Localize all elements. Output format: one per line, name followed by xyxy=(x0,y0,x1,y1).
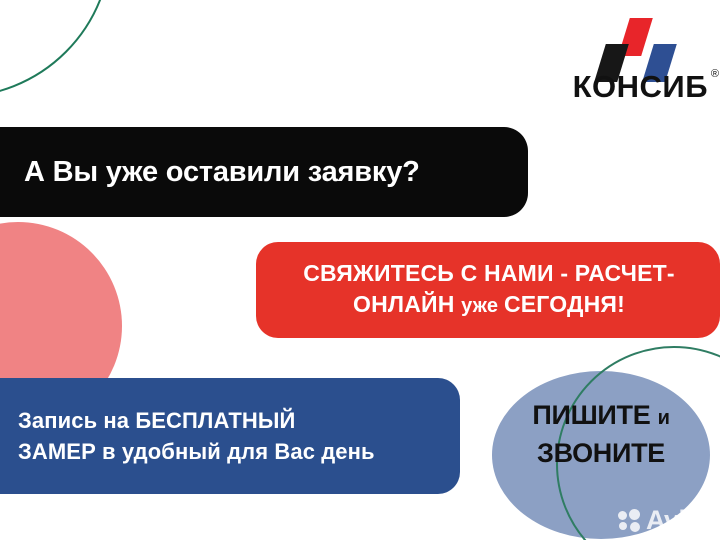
banner-question-text: А Вы уже оставили заявку? xyxy=(24,155,508,189)
banner-contact: СВЯЖИТЕСЬ С НАМИ - РАСЧЕТ- ОНЛАЙН уже СЕ… xyxy=(256,242,720,338)
registered-trademark-icon: ® xyxy=(711,68,719,80)
avito-watermark-text: Avito xyxy=(646,507,710,534)
banner-contact-line-2-part-3: СЕГОДНЯ! xyxy=(504,291,625,317)
banner-contact-line-2-part-2: уже xyxy=(461,295,504,317)
advertisement-canvas: КОНСИБ ® А Вы уже оставили заявку? СВЯЖИ… xyxy=(0,0,720,540)
banner-question: А Вы уже оставили заявку? xyxy=(0,127,528,217)
cta-line-1-conjunction: и xyxy=(658,407,670,429)
banner-measure-line-2: ЗАМЕР в удобный для Вас день xyxy=(18,436,442,467)
banner-free-measurement: Запись на БЕСПЛАТНЫЙ ЗАМЕР в удобный для… xyxy=(0,378,460,494)
banner-contact-line-2: ОНЛАЙН уже СЕГОДНЯ! xyxy=(278,289,700,322)
banner-measure-line-1: Запись на БЕСПЛАТНЫЙ xyxy=(18,405,442,436)
decorative-arc-top-left-icon xyxy=(0,0,112,98)
cta-write-and-call: ПИШИТЕ и ЗВОНИТЕ xyxy=(492,398,710,471)
cta-line-1-main: ПИШИТЕ xyxy=(532,400,657,430)
logo-wordmark-text: КОНСИБ xyxy=(573,69,708,104)
brand-logo: КОНСИБ ® xyxy=(562,18,708,104)
banner-contact-line-1: СВЯЖИТЕСЬ С НАМИ - РАСЧЕТ- xyxy=(278,258,700,289)
cta-line-1: ПИШИТЕ и xyxy=(492,398,710,436)
avito-watermark: Avito xyxy=(618,507,710,534)
cta-line-2: ЗВОНИТЕ xyxy=(492,436,710,471)
avito-dots-icon xyxy=(618,509,642,533)
logo-mark-group xyxy=(562,18,708,70)
logo-wordmark-row: КОНСИБ ® xyxy=(573,71,708,103)
banner-contact-line-2-part-1: ОНЛАЙН xyxy=(353,291,461,317)
